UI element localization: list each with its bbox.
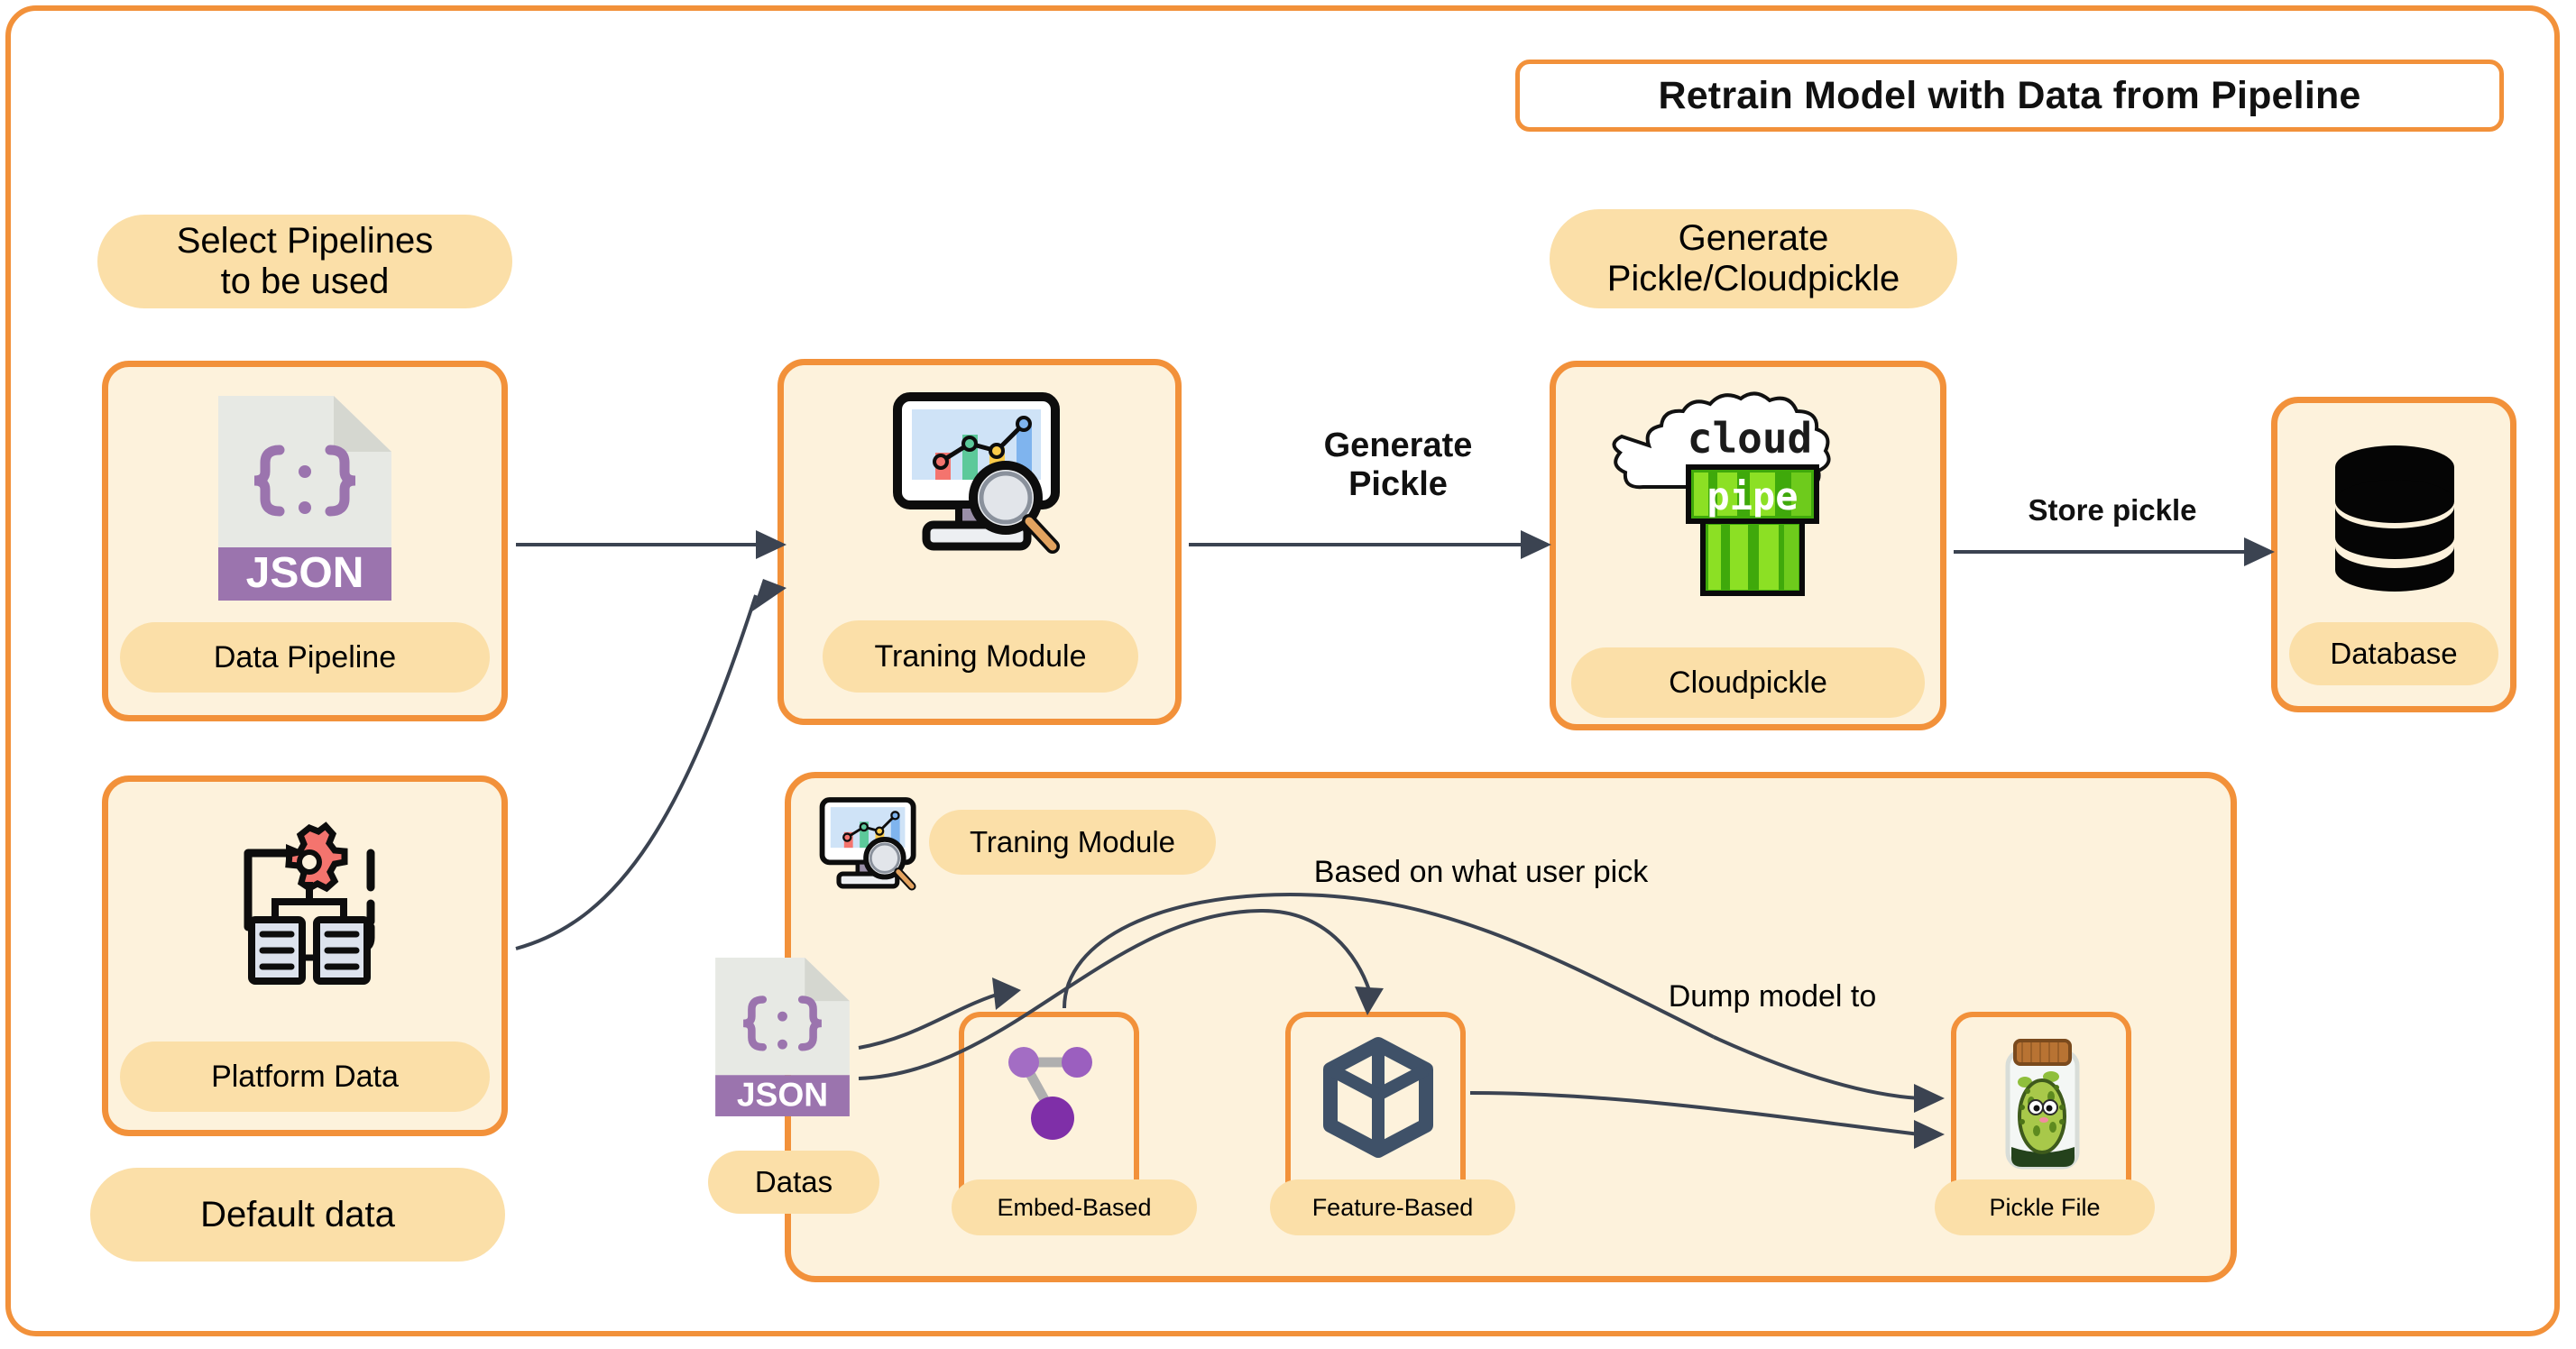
json-file-icon: JSON	[215, 392, 395, 604]
monitor-chart-magnifier-icon	[812, 794, 929, 900]
svg-text:JSON: JSON	[737, 1075, 828, 1113]
label-pickle-file: Pickle File	[1935, 1179, 2155, 1235]
arrow-label-based-on-user-pick: Based on what user pick	[1247, 855, 1716, 889]
label-embed-based: Embed-Based	[952, 1179, 1197, 1235]
note-select-pipelines: Select Pipelines to be used	[97, 215, 512, 308]
arrow-label-store-pickle: Store pickle	[1968, 494, 2257, 528]
svg-text:cloud: cloud	[1688, 414, 1812, 463]
label-training-module: Traning Module	[823, 620, 1138, 693]
page-title: Retrain Model with Data from Pipeline	[1515, 60, 2504, 132]
json-file-icon: JSON	[713, 947, 852, 1127]
cube-icon	[1324, 1039, 1432, 1156]
data-pipeline-gear-icon	[219, 821, 400, 1001]
svg-text:JSON: JSON	[246, 549, 364, 597]
label-data-pipeline: Data Pipeline	[120, 622, 490, 693]
note-generate-pickle: Generate Pickle/Cloudpickle	[1550, 209, 1957, 308]
label-cloudpickle: Cloudpickle	[1571, 647, 1925, 718]
svg-text:pipe: pipe	[1707, 474, 1798, 518]
monitor-chart-magnifier-icon	[879, 388, 1082, 568]
arrow-label-dump-model-to: Dump model to	[1624, 979, 1921, 1014]
arrow-label-generate-pickle: Generate Pickle	[1263, 427, 1533, 503]
graph-nodes-icon	[1001, 1037, 1100, 1154]
label-detail-training-module: Traning Module	[929, 810, 1216, 875]
pickle-jar-icon	[1995, 1037, 2090, 1172]
label-database: Database	[2289, 622, 2498, 685]
database-cylinder-icon	[2327, 442, 2462, 595]
cloudpickle-logo-icon: cloud pipe	[1624, 390, 1876, 601]
label-datas: Datas	[708, 1151, 879, 1214]
label-feature-based: Feature-Based	[1270, 1179, 1515, 1235]
label-platform-data: Platform Data	[120, 1042, 490, 1112]
note-default-data: Default data	[90, 1168, 505, 1262]
